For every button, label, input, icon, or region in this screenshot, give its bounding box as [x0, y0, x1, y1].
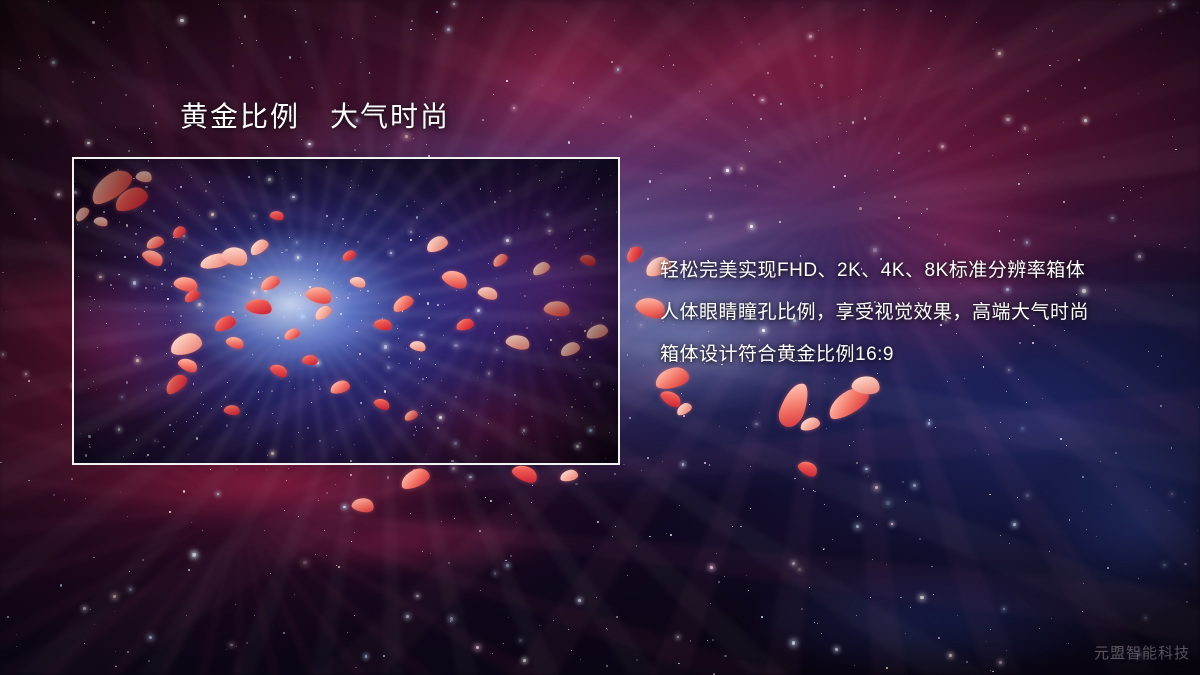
- framed-image: [72, 157, 620, 465]
- rose-petal: [623, 244, 645, 265]
- presentation-slide: 黄金比例 大气时尚 轻松完美实现FHD、2K、4K、8K标准分辨率箱体 人体眼睛…: [0, 0, 1200, 675]
- rose-petal: [775, 379, 812, 430]
- body-line-3: 箱体设计符合黄金比例16:9: [660, 340, 1089, 382]
- body-line-1: 轻松完美实现FHD、2K、4K、8K标准分辨率箱体: [660, 256, 1089, 298]
- rose-petal: [799, 416, 821, 432]
- rose-petal: [351, 496, 376, 515]
- page-title: 黄金比例 大气时尚: [180, 100, 450, 134]
- body-line-2: 人体眼睛瞳孔比例，享受视觉效果，高端大气时尚: [660, 298, 1089, 340]
- rose-petal: [658, 387, 683, 411]
- rose-petal: [559, 469, 578, 482]
- rose-petal: [675, 401, 694, 417]
- rose-petal: [796, 457, 820, 479]
- rose-petal: [398, 465, 432, 491]
- rose-petal: [823, 383, 872, 423]
- body-text-block: 轻松完美实现FHD、2K、4K、8K标准分辨率箱体 人体眼睛瞳孔比例，享受视觉效…: [660, 256, 1089, 382]
- watermark: 元盟智能科技: [1094, 642, 1190, 663]
- framed-image-content: [74, 159, 618, 463]
- inner-vignette: [74, 159, 618, 463]
